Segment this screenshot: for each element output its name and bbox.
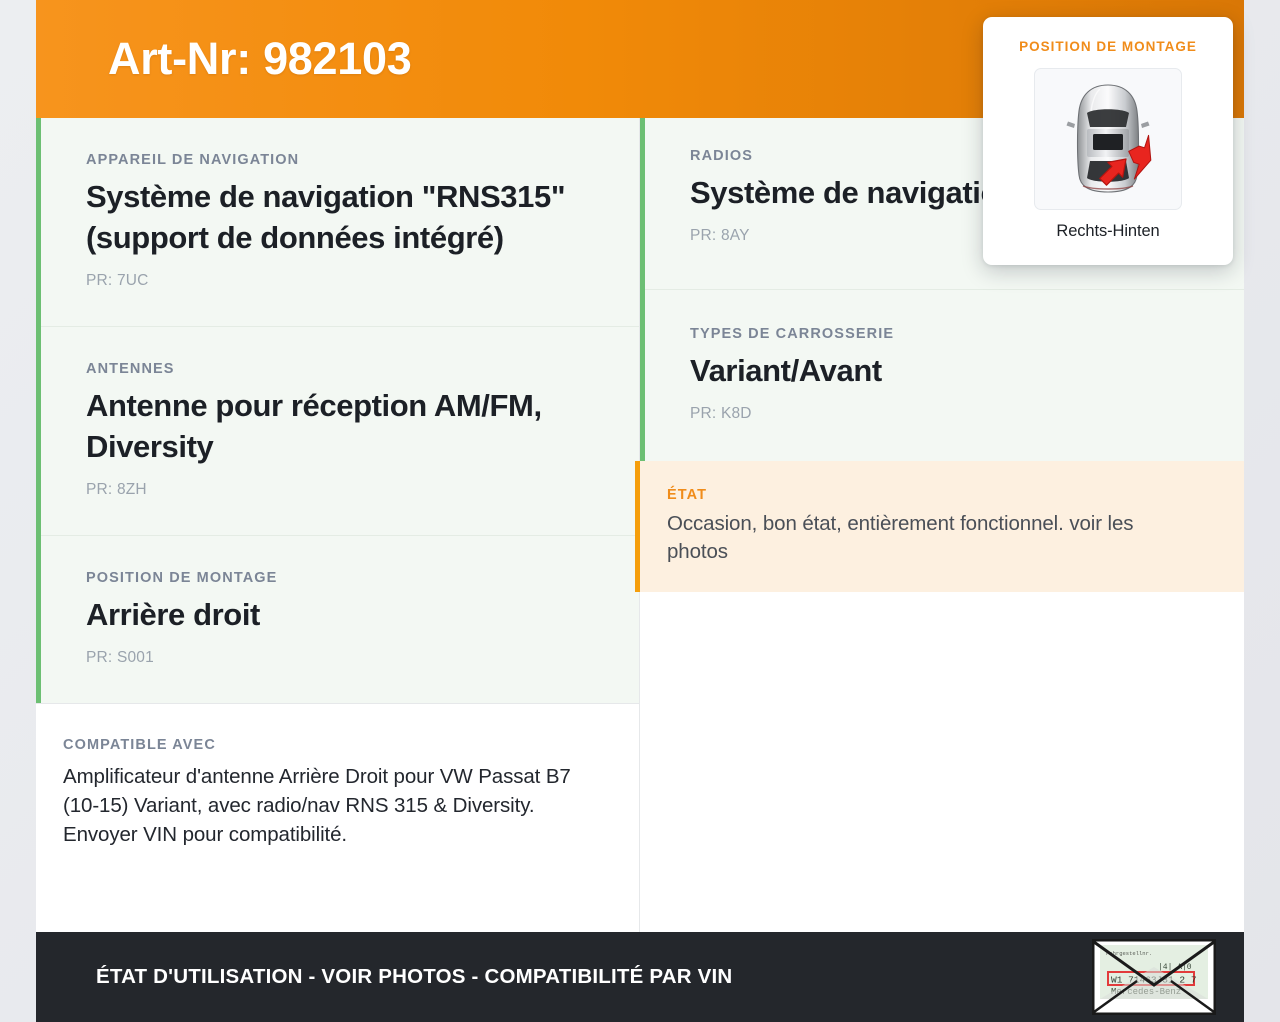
right-column-filler (640, 592, 1244, 932)
spec-card-navigation-device[interactable]: APPAREIL DE NAVIGATION Système de naviga… (41, 118, 639, 327)
spec-value: Arrière droit (86, 595, 593, 636)
spec-value: Antenne pour réception AM/FM, Diversity (86, 386, 593, 468)
spec-label: TYPES DE CARROSSERIE (690, 326, 1198, 342)
compatibility-card[interactable]: COMPATIBLE AVEC Amplificateur d'antenne … (36, 703, 639, 879)
left-column-filler (36, 879, 639, 932)
spec-label: ANTENNES (86, 361, 593, 377)
spec-pr-code: PR: 7UC (86, 272, 593, 290)
spec-card-antennas[interactable]: ANTENNES Antenne pour réception AM/FM, D… (41, 327, 639, 536)
left-spec-stack: APPAREIL DE NAVIGATION Système de naviga… (36, 118, 639, 703)
overlay-title: POSITION DE MONTAGE (1019, 39, 1197, 54)
car-top-view-with-arrow-icon (1034, 68, 1182, 210)
spec-label: POSITION DE MONTAGE (86, 570, 593, 586)
mounting-position-overlay[interactable]: POSITION DE MONTAGE (983, 17, 1233, 265)
condition-label: ÉTAT (667, 487, 1198, 503)
spec-pr-code: PR: 8ZH (86, 481, 593, 499)
compatibility-label: COMPATIBLE AVEC (63, 737, 605, 753)
spec-pr-code: PR: K8D (690, 405, 1198, 423)
footer-text: ÉTAT D'UTILISATION - VOIR PHOTOS - COMPA… (36, 965, 732, 989)
spec-label: APPAREIL DE NAVIGATION (86, 152, 593, 168)
spec-card-mounting-position[interactable]: POSITION DE MONTAGE Arrière droit PR: S0… (41, 536, 639, 703)
condition-card[interactable]: ÉTAT Occasion, bon état, entièrement fon… (635, 461, 1244, 593)
left-column: APPAREIL DE NAVIGATION Système de naviga… (36, 118, 640, 932)
spec-value: Variant/Avant (690, 351, 1198, 392)
compatibility-text: Amplificateur d'antenne Arrière Droit po… (63, 762, 605, 849)
envelope-vin-document-icon: Fahrgestellnr. |4| A|0 W1 71463J31 2 7 M… (1092, 939, 1216, 1015)
overlay-caption: Rechts-Hinten (1056, 222, 1159, 241)
spec-pr-code: PR: S001 (86, 649, 593, 667)
spec-card-body-type[interactable]: TYPES DE CARROSSERIE Variant/Avant PR: K… (645, 290, 1244, 461)
page-root: Art-Nr: 982103 APPAREIL DE NAVIGATION Sy… (0, 0, 1280, 1022)
page-title: Art-Nr: 982103 (36, 33, 411, 85)
condition-text: Occasion, bon état, entièrement fonction… (667, 510, 1198, 567)
footer-bar: ÉTAT D'UTILISATION - VOIR PHOTOS - COMPA… (36, 932, 1244, 1022)
spec-value: Système de navigation "RNS315" (support … (86, 177, 593, 259)
